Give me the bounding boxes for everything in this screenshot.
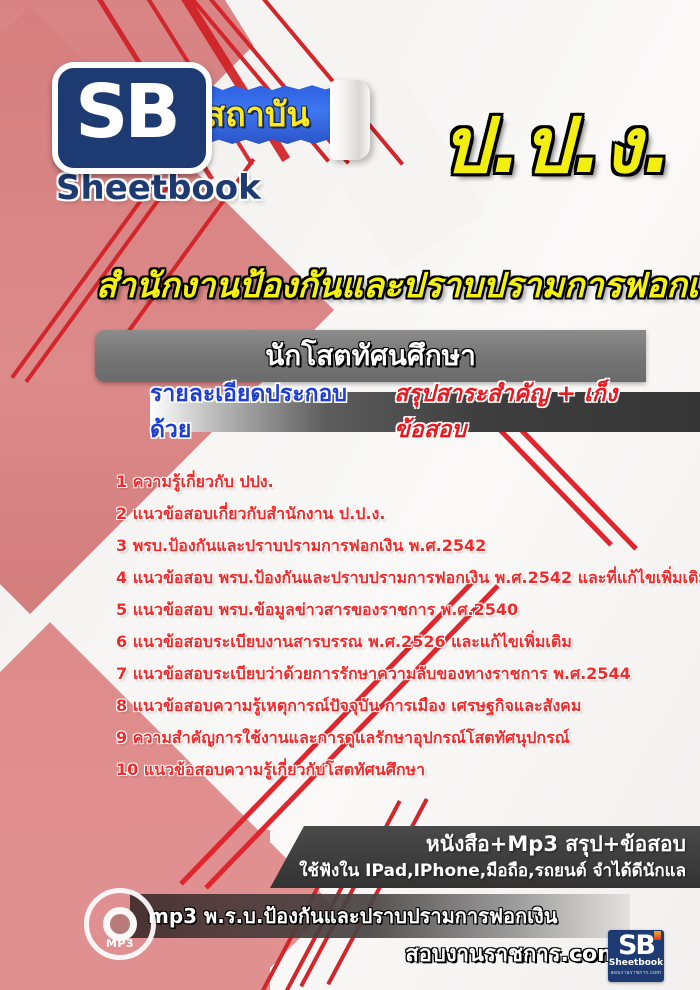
list-item: 10 แนวข้อสอบความรู้เกี่ยวกับโสตทัศนศึกษา [116,754,676,786]
book-cover: สถาบัน SB Sheetbook ป.ป.ง. สำนักงานป้องก… [0,0,700,990]
promo-banner: หนังสือ+Mp3 สรุป+ข้อสอบ ใช้ฟังใน IPad,IP… [270,826,700,888]
corner-logo-word: Sheetbook [608,958,664,968]
organization-name: สำนักงานป้องกันและปราบปรามการฟอกเงิน [96,258,636,312]
detail-prefix: รายละเอียดประกอบด้วย [150,376,384,448]
sb-badge-letters: SB [52,62,200,162]
brand-wordmark: Sheetbook [56,168,261,208]
list-item: 7 แนวข้อสอบระเบียบว่าด้วยการรักษาความลับ… [116,658,676,690]
list-item: 6 แนวข้อสอบระเบียบงานสารบรรณ พ.ศ.2526 แล… [116,626,676,658]
list-item: 1 ความรู้เกี่ยวกับ ปปง. [116,466,676,498]
page-title: ป.ป.ง. [442,108,674,184]
detail-bar: รายละเอียดประกอบด้วย สรุปสาระสำคัญ + เก็… [150,392,700,432]
promo-headline: หนังสือ+Mp3 สรุป+ข้อสอบ [270,830,686,858]
corner-brand-logo: SB Sheetbook สอบงานราชการ.com [608,930,664,982]
list-item: 3 พรบ.ป้องกันและปราบปรามการฟอกเงิน พ.ศ.2… [116,530,676,562]
brand-logo: สถาบัน SB Sheetbook [52,62,382,222]
promo-subline: ใช้ฟังใน IPad,IPhone,มือถือ,รถยนต์ จำได้… [270,858,686,884]
list-item: 5 แนวข้อสอบ พรบ.ข้อมูลข่าวสารของราชการ พ… [116,594,676,626]
list-item: 4 แนวข้อสอบ พรบ.ป้องกันและปราบปรามการฟอก… [116,562,676,594]
list-item: 2 แนวข้อสอบเกี่ยวกับสำนักงาน ป.ป.ง. [116,498,676,530]
mp3-disc-icon: MP3 [84,888,156,960]
detail-highlight: สรุปสาระสำคัญ + เก็งข้อสอบ [394,376,684,448]
position-title: นักโสตทัศนศึกษา [265,334,476,378]
mp3-icon-label: MP3 [89,937,151,950]
contents-list: 1 ความรู้เกี่ยวกับ ปปง. 2 แนวข้อสอบเกี่ย… [116,466,676,786]
mp3-bar: mp3 พ.ร.บ.ป้องกันและปราบปรามการฟอกเงิน [130,894,630,938]
list-item: 9 ความสำคัญการใช้งานและการดูแลรักษาอุปกร… [116,722,676,754]
mp3-title: mp3 พ.ร.บ.ป้องกันและปราบปรามการฟอกเงิน [148,900,557,932]
corner-logo-sub: สอบงานราชการ.com [608,969,664,977]
site-name: สอบงานราชการ.com [330,936,620,971]
position-bar: นักโสตทัศนศึกษา [95,330,646,382]
paper-curl-icon [330,80,370,160]
list-item: 8 แนวข้อสอบความรู้เหตุการณ์ปัจจุบัน การเ… [116,690,676,722]
mp3-disc-hub [103,907,137,941]
